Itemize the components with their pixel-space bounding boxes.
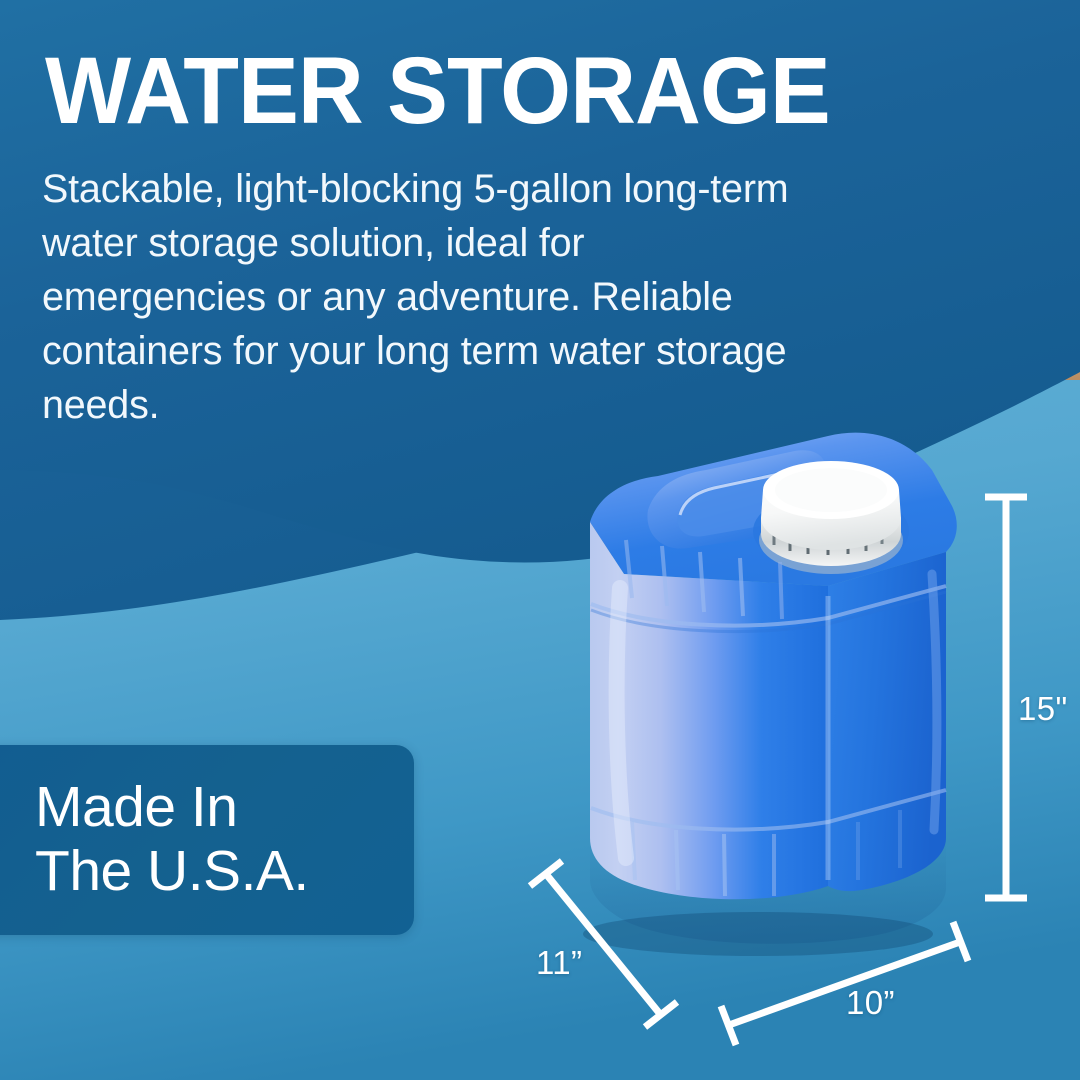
product-description: Stackable, light-blocking 5-gallon long-… [42, 162, 812, 432]
dimension-label-depth: 11” [536, 944, 582, 982]
dimension-label-width: 10” [846, 984, 895, 1022]
made-in-usa-label: Made In The U.S.A. [35, 775, 309, 903]
infographic-canvas: WATER STORAGE Stackable, light-blocking … [0, 0, 1080, 1080]
page-title: WATER STORAGE [45, 44, 830, 139]
dimension-label-height: 15" [1018, 690, 1068, 728]
made-in-usa-badge: Made In The U.S.A. [0, 745, 414, 935]
content-layer: WATER STORAGE Stackable, light-blocking … [0, 0, 1080, 1080]
